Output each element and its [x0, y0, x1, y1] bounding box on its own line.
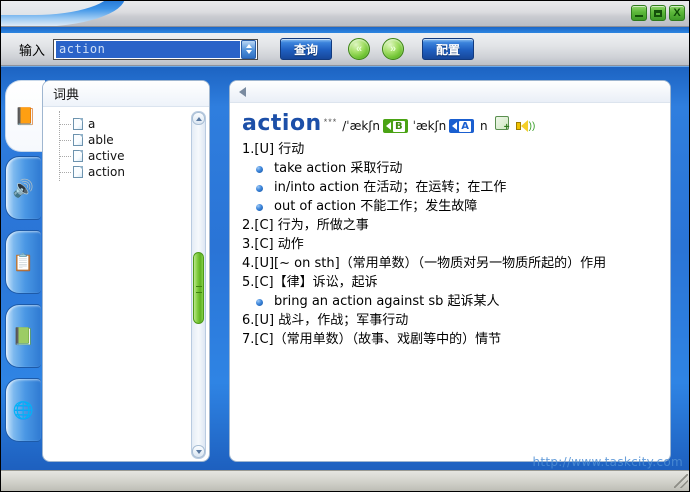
input-label: 输入 — [19, 40, 45, 59]
definition-list: 1.[U] 行动 take action 采取行动 in/into action… — [242, 140, 670, 349]
dictionary-entry: action *** /ˈækʃn B ˈækʃn A n — [230, 103, 670, 349]
sidebar-item-web-translate[interactable]: 🌐 — [5, 378, 41, 442]
part-of-speech: n — [480, 119, 488, 133]
speaker-icon — [386, 122, 391, 130]
back-icon[interactable] — [239, 87, 246, 97]
window-controls: X — [631, 5, 685, 21]
word-tree: a able active action — [43, 107, 209, 180]
pronounce-us-button[interactable]: A — [449, 119, 474, 133]
definition-item: 3.[C] 动作 — [242, 235, 670, 254]
list-item[interactable]: able — [57, 132, 209, 148]
dictionary-list-panel: 词典 a able active action — [42, 80, 210, 462]
chevron-down-icon — [196, 450, 202, 454]
definition-panel: action *** /ˈækʃn B ˈækʃn A n — [229, 80, 671, 462]
list-item[interactable]: a — [57, 116, 209, 132]
sidebar: 📙 🔊 📋 📗 🌐 — [5, 80, 41, 462]
entry-headline: action *** /ˈækʃn B ˈækʃn A n — [242, 111, 670, 136]
query-button[interactable]: 查询 — [280, 38, 332, 60]
scroll-up-button[interactable] — [192, 112, 205, 125]
dictionary-list-title: 词典 — [43, 81, 209, 107]
definition-example: in/into action 在活动；在运转；在工作 — [242, 178, 670, 197]
scrollbar-thumb[interactable] — [193, 252, 204, 324]
combobox-spinner[interactable] — [241, 40, 256, 59]
chevron-up-icon — [196, 117, 202, 121]
add-to-notebook-icon[interactable] — [495, 116, 509, 130]
chevron-down-icon — [246, 50, 252, 54]
list-item-label: able — [88, 133, 114, 147]
list-item[interactable]: action — [57, 164, 209, 180]
clipboard-icon: 📋 — [13, 254, 34, 271]
speaker-icon — [452, 122, 457, 130]
previous-button[interactable]: « — [348, 38, 370, 60]
definition-item: 7.[C]（常用单数）（故事、戏剧等中的）情节 — [242, 330, 670, 349]
document-icon — [73, 118, 83, 130]
document-icon — [73, 150, 83, 162]
sound-waves: )) — [529, 121, 536, 132]
config-button[interactable]: 配置 — [422, 38, 474, 60]
definition-example: out of action 不能工作；发生故障 — [242, 197, 670, 216]
list-item-label: a — [88, 117, 95, 131]
definition-item: 4.[U][~ on sth]（常用单数）（一物质对另一物质所起的）作用 — [242, 254, 670, 273]
ipa-us: ˈækʃn — [413, 119, 447, 133]
definition-item: 5.[C]【律】诉讼，起诉 — [242, 273, 670, 292]
resize-grip[interactable] — [674, 474, 688, 488]
search-combobox[interactable]: action — [53, 39, 258, 60]
headword: action — [242, 111, 322, 136]
sidebar-item-pronounce[interactable]: 🔊 — [5, 156, 41, 220]
main-body: 📙 🔊 📋 📗 🌐 词典 a — [1, 66, 690, 472]
pronounce-uk-button[interactable]: B — [383, 119, 408, 133]
badge-uk-label: B — [393, 121, 405, 132]
definition-example: take action 采取行动 — [242, 159, 670, 178]
chevron-up-icon — [246, 44, 252, 48]
play-sound-icon[interactable]: )) — [516, 120, 536, 132]
book-icon: 📙 — [15, 108, 36, 125]
speaker-icon: 🔊 — [13, 180, 34, 197]
list-item-label: action — [88, 165, 125, 179]
sidebar-item-dictionary[interactable]: 📙 — [5, 80, 45, 152]
definition-item: 2.[C] 行为，所做之事 — [242, 216, 670, 235]
definition-item: 1.[U] 行动 — [242, 140, 670, 159]
definition-item: 6.[U] 战斗，作战；军事行动 — [242, 311, 670, 330]
minimize-button[interactable] — [631, 5, 647, 21]
document-icon — [73, 134, 83, 146]
document-icon — [73, 166, 83, 178]
definition-panel-header — [230, 81, 670, 103]
globe-pen-icon: 🌐 — [13, 402, 34, 419]
scroll-down-button[interactable] — [192, 445, 205, 458]
speaker-cone — [521, 120, 528, 132]
ipa-uk: /ˈækʃn — [342, 119, 380, 133]
title-bar: X — [1, 1, 690, 27]
maximize-button[interactable] — [650, 5, 666, 21]
notebook-add-icon: 📗 — [13, 328, 34, 345]
frequency-stars: *** — [324, 117, 338, 127]
toolbar: 输入 action 查询 « » 配置 — [1, 33, 690, 66]
sidebar-item-clipboard[interactable]: 📋 — [5, 230, 41, 294]
application-window: X 输入 action 查询 « » 配置 📙 🔊 📋 — [0, 0, 690, 492]
next-button[interactable]: » — [382, 38, 404, 60]
status-bar — [1, 470, 690, 491]
close-button[interactable]: X — [669, 5, 685, 21]
sidebar-item-add-word[interactable]: 📗 — [5, 304, 41, 368]
list-item[interactable]: active — [57, 148, 209, 164]
list-item-label: active — [88, 149, 124, 163]
list-scrollbar[interactable] — [191, 111, 206, 459]
badge-us-label: A — [459, 121, 471, 132]
search-input[interactable]: action — [56, 41, 240, 58]
definition-example: bring an action against sb 起诉某人 — [242, 292, 670, 311]
